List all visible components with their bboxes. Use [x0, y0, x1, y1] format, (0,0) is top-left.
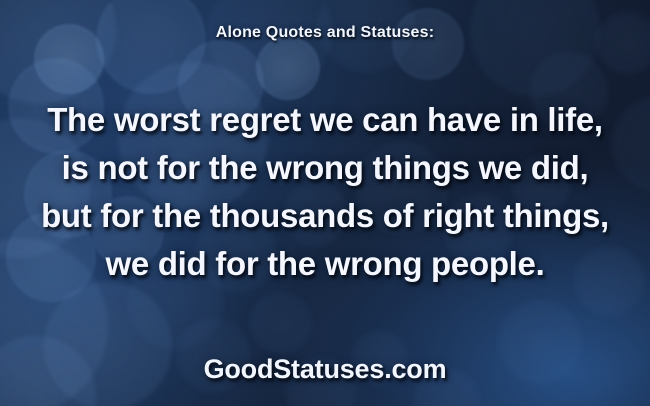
quote-line: but for the thousands of right things,: [0, 192, 650, 240]
quote-line: we did for the wrong people.: [0, 240, 650, 288]
quote-line: The worst regret we can have in life,: [0, 96, 650, 144]
quote-text: The worst regret we can have in life, is…: [0, 96, 650, 288]
quote-line: is not for the wrong things we did,: [0, 144, 650, 192]
quote-poster: Alone Quotes and Statuses: The worst reg…: [0, 0, 650, 406]
page-title: Alone Quotes and Statuses:: [0, 24, 650, 42]
site-watermark: GoodStatuses.com: [0, 354, 650, 385]
